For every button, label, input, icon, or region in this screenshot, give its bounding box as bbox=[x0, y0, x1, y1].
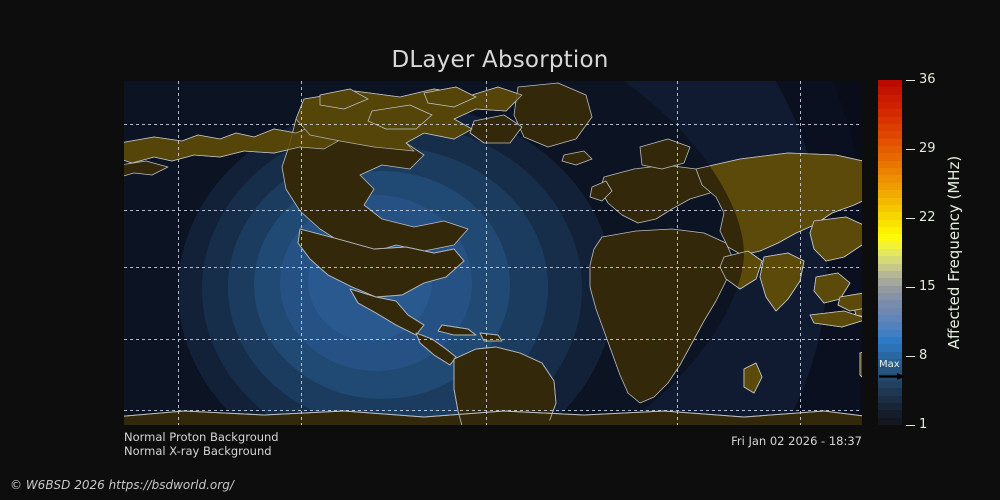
colorbar-band bbox=[878, 109, 902, 116]
colorbar-band bbox=[878, 161, 902, 168]
xray-background-note: Normal X-ray Background bbox=[124, 444, 272, 458]
max-marker-arrow-icon bbox=[879, 373, 905, 380]
colorbar-band bbox=[878, 396, 902, 403]
colorbar-band bbox=[878, 322, 902, 329]
colorbar-band bbox=[878, 153, 902, 160]
colorbar-band bbox=[878, 271, 902, 278]
colorbar-band bbox=[878, 403, 902, 410]
max-marker: Max bbox=[878, 359, 918, 383]
page-title: DLayer Absorption bbox=[0, 47, 1000, 73]
colorbar-band bbox=[878, 146, 902, 153]
colorbar-band bbox=[878, 410, 902, 417]
colorbar-band bbox=[878, 315, 902, 322]
colorbar-band bbox=[878, 308, 902, 315]
colorbar-band bbox=[878, 256, 902, 263]
colorbar-band bbox=[878, 234, 902, 241]
colorbar-band bbox=[878, 102, 902, 109]
colorbar-band bbox=[878, 264, 902, 271]
proton-background-note: Normal Proton Background bbox=[124, 430, 279, 444]
colorbar-band bbox=[878, 190, 902, 197]
colorbar-tick bbox=[906, 425, 915, 426]
colorbar-band bbox=[878, 249, 902, 256]
colorbar-tick bbox=[906, 149, 915, 150]
max-marker-label: Max bbox=[879, 359, 900, 370]
timestamp: Fri Jan 02 2026 - 18:37 bbox=[731, 434, 862, 448]
colorbar-tick-label: 29 bbox=[919, 142, 936, 155]
colorbar-band bbox=[878, 80, 902, 87]
colorbar-band bbox=[878, 337, 902, 344]
colorbar-band bbox=[878, 131, 902, 138]
colorbar-tick-label: 36 bbox=[919, 73, 936, 86]
colorbar-band bbox=[878, 344, 902, 351]
world-map[interactable] bbox=[124, 81, 862, 425]
colorbar-band bbox=[878, 286, 902, 293]
colorbar-band bbox=[878, 278, 902, 285]
dlayer-absorption-app: DLayer Absorption bbox=[0, 0, 1000, 500]
colorbar-band bbox=[878, 352, 902, 359]
colorbar-band bbox=[878, 175, 902, 182]
colorbar-band bbox=[878, 330, 902, 337]
colorbar-tick bbox=[906, 287, 915, 288]
colorbar-band bbox=[878, 388, 902, 395]
colorbar-band bbox=[878, 139, 902, 146]
colorbar-band bbox=[878, 205, 902, 212]
colorbar-tick bbox=[906, 80, 915, 81]
colorbar-axis-label: Affected Frequency (MHz) bbox=[943, 80, 965, 425]
map-layers bbox=[124, 81, 862, 425]
colorbar-band bbox=[878, 183, 902, 190]
colorbar-band bbox=[878, 212, 902, 219]
colorbar-tick bbox=[906, 218, 915, 219]
colorbar-tick-label: 15 bbox=[919, 280, 936, 293]
colorbar-tick-label: 1 bbox=[919, 418, 927, 431]
colorbar-tick-label: 8 bbox=[919, 349, 927, 362]
colorbar-band bbox=[878, 95, 902, 102]
colorbar-band bbox=[878, 220, 902, 227]
colorbar-band bbox=[878, 198, 902, 205]
colorbar-tick-label: 22 bbox=[919, 211, 936, 224]
colorbar-band bbox=[878, 168, 902, 175]
map-canvas bbox=[124, 81, 862, 425]
colorbar[interactable]: Max 3629221581 bbox=[878, 80, 902, 425]
colorbar-band bbox=[878, 418, 902, 425]
colorbar-band bbox=[878, 87, 902, 94]
colorbar-tick bbox=[906, 356, 915, 357]
colorbar-band bbox=[878, 293, 902, 300]
colorbar-band bbox=[878, 300, 902, 307]
copyright-footer: © W6BSD 2026 https://bsdworld.org/ bbox=[10, 478, 234, 492]
colorbar-band bbox=[878, 227, 902, 234]
colorbar-band bbox=[878, 124, 902, 131]
colorbar-band bbox=[878, 117, 902, 124]
colorbar-band bbox=[878, 242, 902, 249]
